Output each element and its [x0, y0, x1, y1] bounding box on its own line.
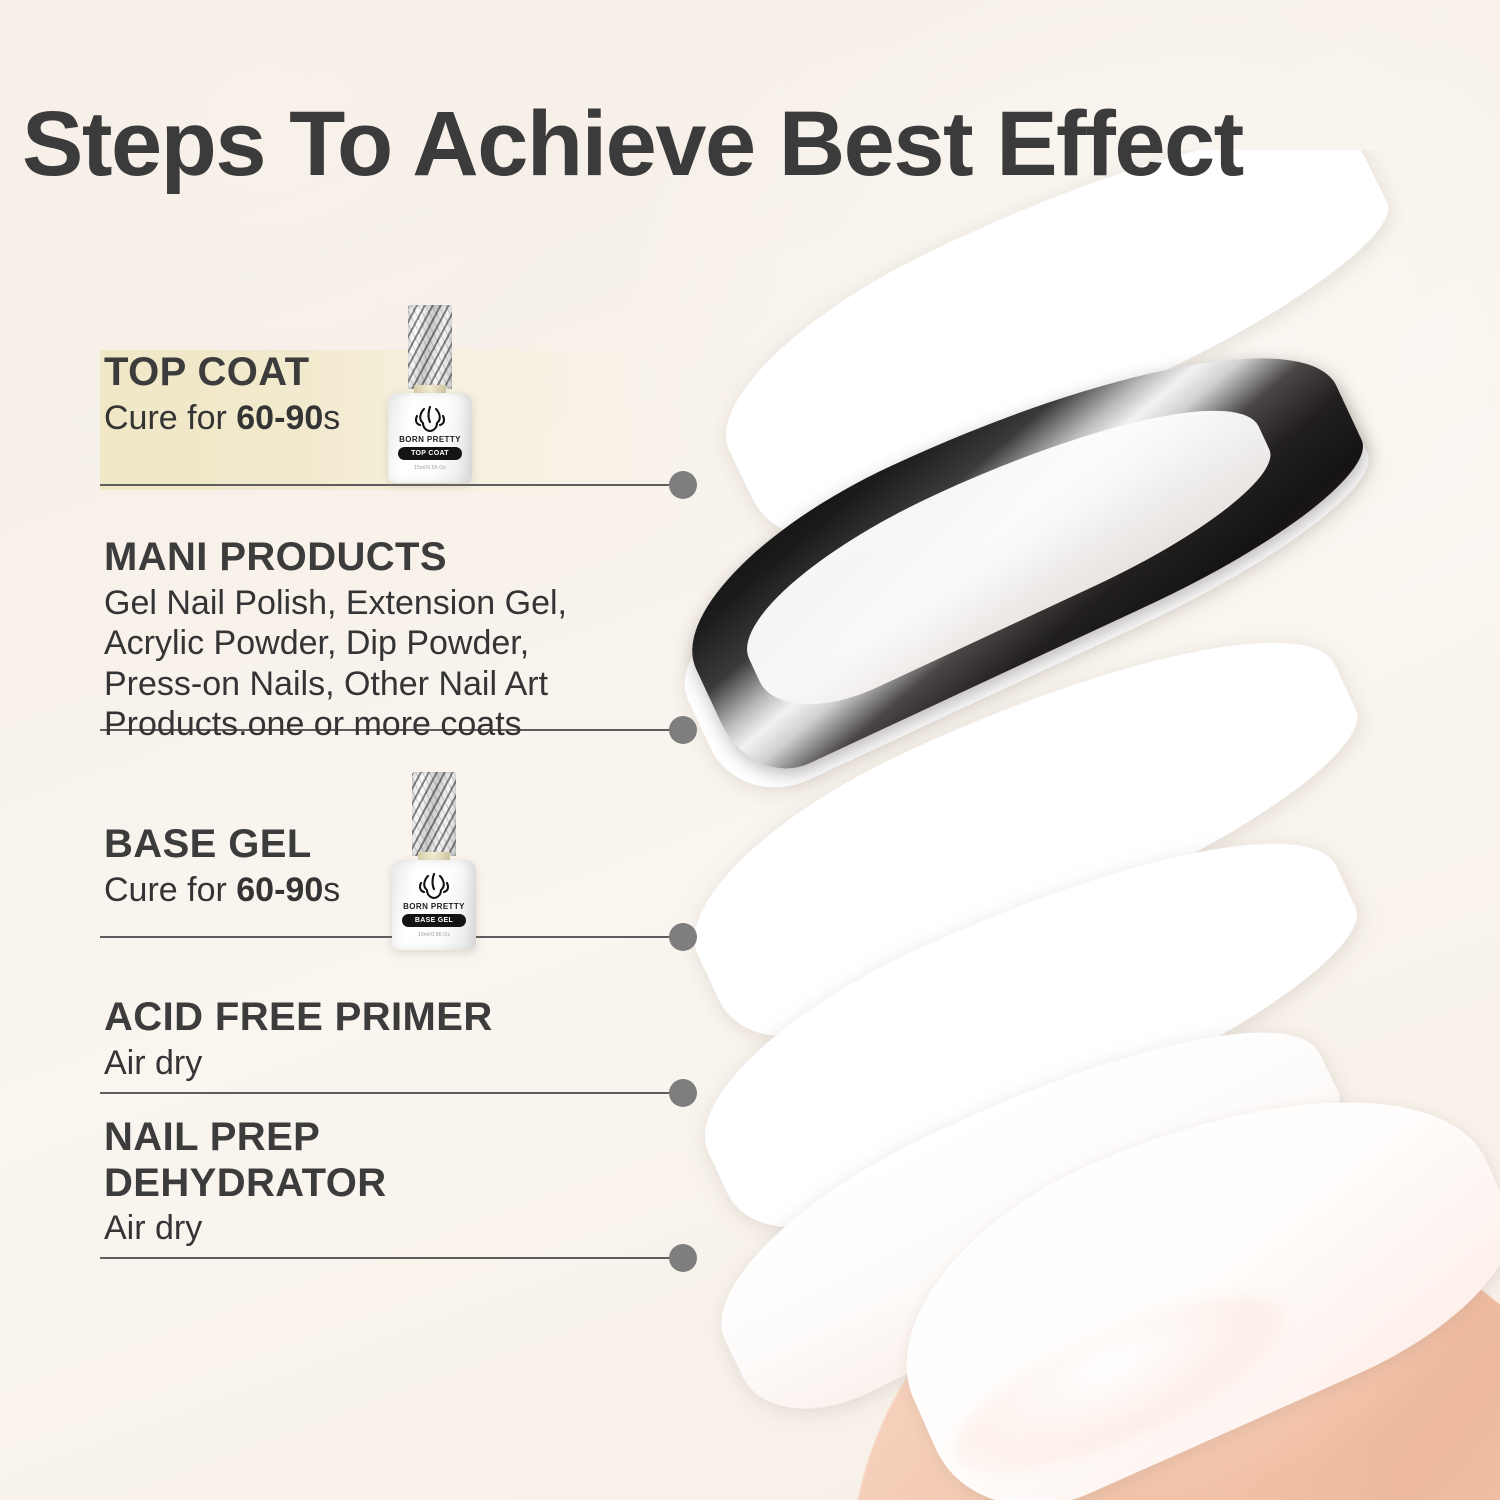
connector-dot — [669, 471, 697, 499]
step-row-base-gel: BASE GEL Cure for 60-90s — [0, 822, 760, 954]
step-row-nail-prep-dehydrator: NAIL PREP DEHYDRATOR Air dry — [0, 1115, 760, 1267]
step-description-mani-products: Gel Nail Polish, Extension Gel, Acrylic … — [104, 583, 760, 745]
natural-nail — [856, 1017, 1500, 1500]
step-subtitle-nail-prep-dehydrator: Air dry — [104, 1208, 760, 1248]
white-nail-tip — [683, 966, 1366, 1440]
cure-prefix: Cure for — [104, 871, 236, 909]
white-nail-tip — [657, 572, 1382, 1063]
connector-line — [100, 484, 683, 486]
step-row-top-coat: TOP COAT Cure for 60-90s — [0, 350, 760, 490]
step-subtitle-acid-free-primer: Air dry — [104, 1043, 760, 1083]
cure-suffix: s — [323, 399, 340, 437]
step-title-nail-prep-dehydrator: NAIL PREP DEHYDRATOR — [104, 1115, 760, 1206]
black-nail-tip — [653, 281, 1387, 790]
step-row-mani-products: MANI PRODUCTS Gel Nail Polish, Extension… — [0, 535, 760, 750]
step-row-acid-free-primer: ACID FREE PRIMER Air dry — [0, 995, 760, 1103]
white-nail-tip — [689, 150, 1410, 558]
step-title-mani-products: MANI PRODUCTS — [104, 535, 760, 581]
bottle-label-base-gel: BASE GEL — [402, 914, 466, 927]
connector-line — [100, 1257, 683, 1259]
cure-prefix: Cure for — [104, 399, 236, 437]
bottle-volume-text: 15ml/0.5fl.Oz — [382, 465, 478, 471]
cuticle-highlight — [933, 1262, 1307, 1500]
page-title: Steps To Achieve Best Effect — [22, 96, 1482, 193]
bottle-brand-text: BORN PRETTY — [386, 902, 482, 911]
black-nail-tip-highlight — [720, 359, 1291, 732]
nail-tips-photo — [640, 150, 1500, 1500]
bottle-cap-foil — [412, 772, 456, 856]
cure-duration: 60-90 — [236, 871, 323, 909]
infographic-canvas: Steps To Achieve Best Effect TOP COAT Cu… — [0, 0, 1500, 1500]
fingertip — [734, 1084, 1500, 1500]
born-pretty-flower-logo — [414, 872, 454, 900]
connector-line — [100, 1092, 683, 1094]
connector-dot — [669, 1079, 697, 1107]
product-bottle-top-coat: BORN PRETTY TOP COAT 15ml/0.5fl.Oz — [382, 305, 478, 483]
bottle-label-top-coat: TOP COAT — [398, 447, 462, 460]
white-nail-tip — [668, 774, 1382, 1256]
product-bottle-base-gel: BORN PRETTY BASE GEL 15ml/0.5fl.Oz — [386, 772, 482, 950]
cure-suffix: s — [323, 871, 340, 909]
step-title-acid-free-primer: ACID FREE PRIMER — [104, 995, 760, 1041]
bottle-volume-text: 15ml/0.5fl.Oz — [386, 932, 482, 938]
born-pretty-flower-logo — [410, 405, 450, 433]
bottle-cap-foil — [408, 305, 452, 389]
connector-dot — [669, 923, 697, 951]
bottle-brand-text: BORN PRETTY — [382, 435, 478, 444]
cure-duration: 60-90 — [236, 399, 323, 437]
